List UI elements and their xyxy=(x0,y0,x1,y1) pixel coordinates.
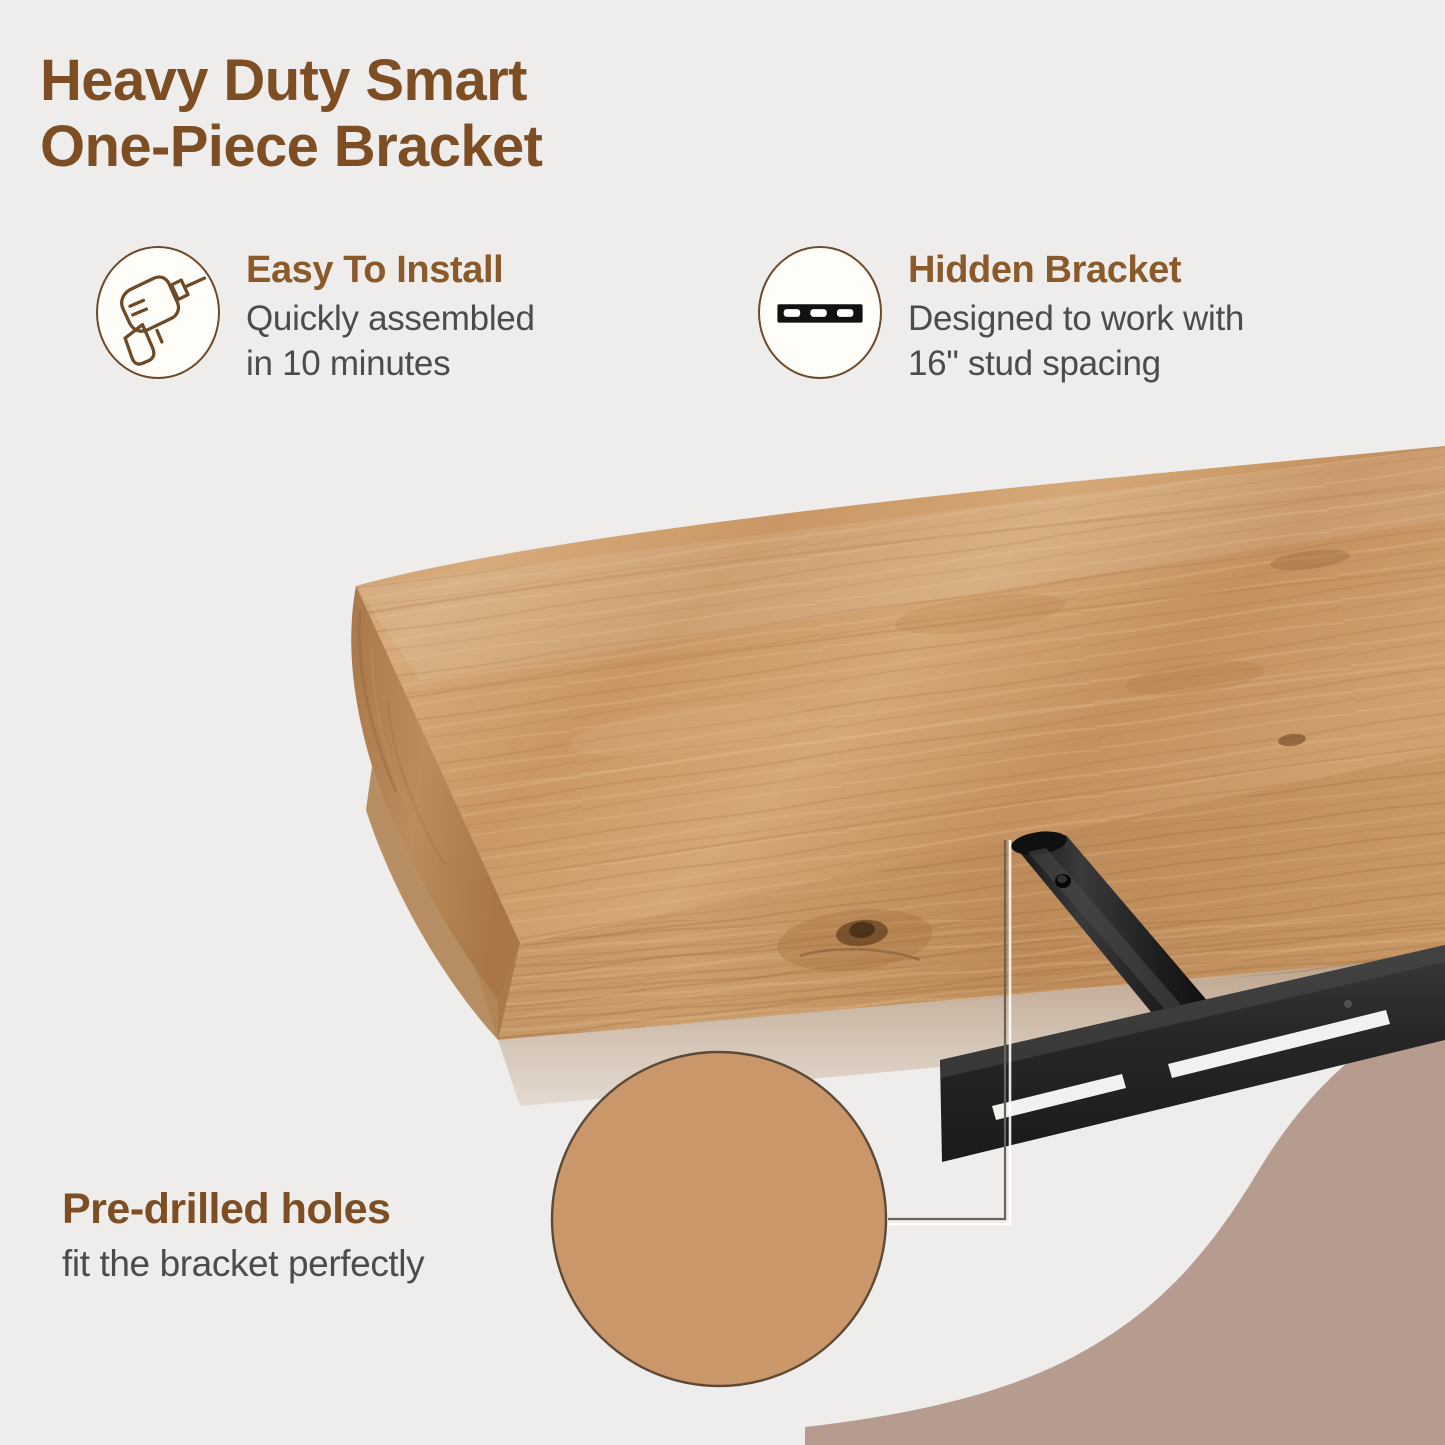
caption-subtext: fit the bracket perfectly xyxy=(62,1242,582,1286)
title-line-2: One-Piece Bracket xyxy=(40,114,860,180)
feature-text: Hidden Bracket Designed to work with 16"… xyxy=(908,246,1244,387)
feature-body-line-1: Designed to work with xyxy=(908,297,1244,342)
feature-body: Quickly assembled in 10 minutes xyxy=(246,297,535,387)
feature-heading: Easy To Install xyxy=(246,250,535,291)
product-feature-graphic: Heavy Duty Smart One-Piece Bracket xyxy=(0,0,1445,1445)
magnifier-detail xyxy=(552,1052,886,1386)
feature-body-line-2: in 10 minutes xyxy=(246,342,535,387)
feature-body: Designed to work with 16" stud spacing xyxy=(908,297,1244,387)
feature-body-line-2: 16" stud spacing xyxy=(908,342,1244,387)
feature-body-line-1: Quickly assembled xyxy=(246,297,535,342)
bracket-bar-icon xyxy=(758,246,882,379)
pre-drilled-holes-caption: Pre-drilled holes fit the bracket perfec… xyxy=(62,1186,582,1287)
product-photo xyxy=(0,400,1445,1445)
feature-list: Easy To Install Quickly assembled in 10 … xyxy=(0,246,1445,411)
feature-heading: Hidden Bracket xyxy=(908,250,1244,291)
feature-easy-to-install: Easy To Install Quickly assembled in 10 … xyxy=(96,246,535,387)
page-title: Heavy Duty Smart One-Piece Bracket xyxy=(40,48,860,179)
feature-text: Easy To Install Quickly assembled in 10 … xyxy=(246,246,535,387)
drill-icon xyxy=(96,246,220,379)
caption-heading: Pre-drilled holes xyxy=(62,1186,582,1233)
feature-hidden-bracket: Hidden Bracket Designed to work with 16"… xyxy=(758,246,1244,387)
title-line-1: Heavy Duty Smart xyxy=(40,48,860,114)
